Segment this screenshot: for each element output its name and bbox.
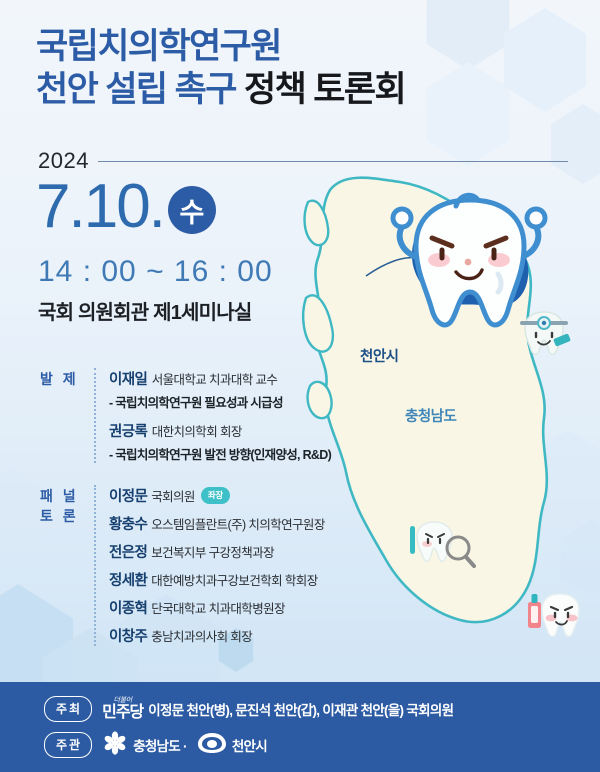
organizer-badge: 주관 bbox=[44, 732, 92, 758]
panel-list: 이정문 국회의원 좌장 황충수 오스템임플란트(주) 치의학연구원장 전은정 보… bbox=[109, 485, 400, 646]
panel-item: 이창주 충남치과의사회 회장 bbox=[109, 625, 400, 646]
presentation-item: 권긍록 대한치의학회 회장 - 국립치의학연구원 발전 방향(인재양성, R&D… bbox=[109, 420, 400, 463]
speaker-affiliation: 대한치의학회 회장 bbox=[152, 425, 242, 439]
presentation-item: 이재일 서울대학교 치과대학 교수 - 국립치의학연구원 필요성과 시급성 bbox=[109, 368, 400, 411]
host-names: 이정문 천안(병), 문진석 천안(갑), 이재관 천안(을) 국회의원 bbox=[148, 699, 453, 719]
year-label: 2024 bbox=[38, 148, 89, 174]
panelist-affiliation: 보건복지부 구강정책과장 bbox=[151, 542, 274, 561]
speaker-name: 권긍록 bbox=[109, 424, 147, 440]
panel-block: 패 널 토 론 이정문 국회의원 좌장 황충수 오스템임플란트(주) 치의학연구… bbox=[40, 485, 400, 646]
panelist-chair-badge: 좌장 bbox=[201, 487, 230, 504]
map-label-cheonan: 천안시 bbox=[360, 345, 399, 366]
speaker-name: 이재일 bbox=[109, 372, 147, 388]
panel-label: 패 널 토 론 bbox=[40, 485, 90, 646]
cheonan-emblem-icon bbox=[197, 731, 227, 760]
panelist-name: 이종혁 bbox=[109, 597, 147, 618]
host-badge: 주최 bbox=[44, 696, 92, 722]
tooth-mascot-magnifier-icon bbox=[406, 518, 476, 574]
section-divider-panel bbox=[94, 485, 96, 646]
weekday-badge: 수 bbox=[168, 186, 216, 234]
panelist-name: 이정문 bbox=[109, 485, 147, 506]
panelist-name: 이창주 bbox=[109, 625, 147, 646]
panel-item: 정세환 대한예방치과구강보건학회 학회장 bbox=[109, 569, 400, 590]
program-section: 발 제 이재일 서울대학교 치과대학 교수 - 국립치의학연구원 필요성과 시급… bbox=[40, 368, 400, 646]
footer-host-row: 주최 더불어 민주당 이정문 천안(병), 문진석 천안(갑), 이재관 천안(… bbox=[0, 696, 600, 722]
venue-label: 국회 의원회관 제1세미나실 bbox=[38, 296, 251, 325]
tooth-mascot-toothpaste-icon bbox=[522, 588, 584, 646]
democratic-party-logo: 더불어 민주당 bbox=[102, 697, 143, 721]
footer-bar: 주최 더불어 민주당 이정문 천안(병), 문진석 천안(갑), 이재관 천안(… bbox=[0, 682, 600, 772]
panel-item: 황충수 오스템임플란트(주) 치의학연구원장 bbox=[109, 513, 400, 534]
panelist-name: 황충수 bbox=[109, 513, 147, 534]
panelist-affiliation: 단국대학교 치과대학병원장 bbox=[151, 598, 285, 617]
presentation-topic: - 국립치의학연구원 필요성과 시급성 bbox=[109, 392, 400, 411]
panel-label-line-2: 토 론 bbox=[40, 506, 90, 526]
party-logo-big-text: 민주당 bbox=[102, 705, 143, 721]
date-row: 7.10. 수 bbox=[36, 176, 216, 238]
chungnam-emblem-icon bbox=[102, 731, 128, 760]
party-logo-small-text: 더불어 bbox=[113, 697, 131, 704]
title-line-1: 국립치의학연구원 bbox=[36, 26, 405, 69]
panelist-name: 전은정 bbox=[109, 541, 147, 562]
title-line-2-dark: 정책 토론회 bbox=[244, 70, 405, 109]
section-divider-presentation bbox=[94, 368, 96, 463]
panel-item: 이종혁 단국대학교 치과대학병원장 bbox=[109, 597, 400, 618]
panelist-affiliation: 대한예방치과구강보건학회 학회장 bbox=[151, 570, 317, 589]
time-label: 14 : 00 ~ 16 : 00 bbox=[38, 255, 273, 289]
date-label: 7.10. bbox=[36, 176, 164, 238]
map-label-chungnam: 충청남도 bbox=[405, 405, 456, 426]
panel-item: 이정문 국회의원 좌장 bbox=[109, 485, 400, 506]
panelist-name: 정세환 bbox=[109, 569, 147, 590]
panel-item: 전은정 보건복지부 구강정책과장 bbox=[109, 541, 400, 562]
panelist-affiliation: 국회의원 bbox=[151, 486, 195, 505]
tooth-mascot-dentist-icon bbox=[516, 306, 572, 358]
speaker-affiliation: 서울대학교 치과대학 교수 bbox=[152, 373, 278, 387]
poster-title: 국립치의학연구원 천안 설립 촉구 정책 토론회 bbox=[36, 26, 405, 111]
presentation-speaker-row: 권긍록 대한치의학회 회장 bbox=[109, 420, 400, 441]
title-line-2-blue: 천안 설립 촉구 bbox=[36, 70, 236, 109]
presentation-speaker-row: 이재일 서울대학교 치과대학 교수 bbox=[109, 368, 400, 389]
panelist-affiliation: 충남치과의사회 회장 bbox=[151, 626, 252, 645]
organizer-chungnam-label: 충청남도 · bbox=[133, 735, 187, 755]
presentation-topic: - 국립치의학연구원 발전 방향(인재양성, R&D) bbox=[109, 444, 400, 463]
panelist-affiliation: 오스템임플란트(주) 치의학연구원장 bbox=[151, 514, 325, 533]
presentation-list: 이재일 서울대학교 치과대학 교수 - 국립치의학연구원 필요성과 시급성 권긍… bbox=[109, 368, 400, 463]
presentation-block: 발 제 이재일 서울대학교 치과대학 교수 - 국립치의학연구원 필요성과 시급… bbox=[40, 368, 400, 463]
presentation-label: 발 제 bbox=[40, 368, 90, 463]
title-line-2: 천안 설립 촉구 정책 토론회 bbox=[36, 69, 405, 112]
organizer-cheonan-label: 천안시 bbox=[232, 735, 267, 755]
footer-organizer-row: 주관 충청남도 · bbox=[0, 731, 600, 760]
poster-root: 국립치의학연구원 천안 설립 촉구 정책 토론회 2024 7.10. 수 14… bbox=[0, 0, 600, 772]
panel-label-line-1: 패 널 bbox=[40, 486, 90, 506]
